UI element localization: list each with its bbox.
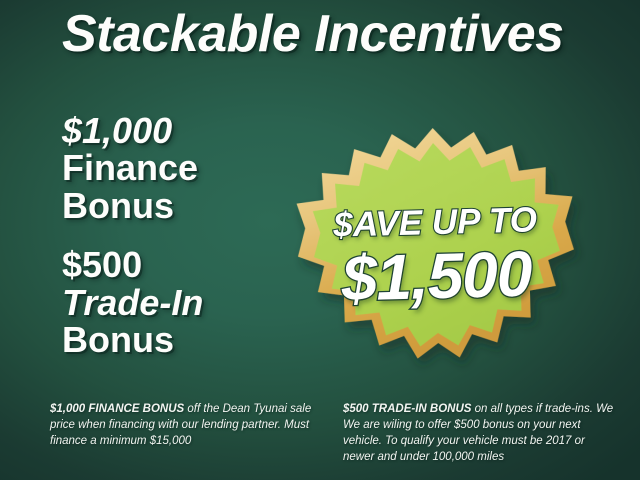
- promo-poster: Stackable Incentives $1,000 Finance Bonu…: [0, 0, 640, 480]
- badge-top-label: $AVE UP TO: [333, 202, 537, 242]
- offer-amount: $1,000: [62, 112, 312, 149]
- offer-label-line2: Bonus: [62, 321, 312, 358]
- offer-label-line2: Bonus: [62, 187, 312, 224]
- fineprint-paragraph: $500 TRADE-IN BONUS on all types if trad…: [343, 402, 614, 465]
- fineprint-finance-column: $1,000 FINANCE BONUS off the Dean Tyunai…: [50, 402, 321, 465]
- badge-text-group: $AVE UP TO $1,500: [291, 120, 582, 391]
- fineprint-lead: $1,000 FINANCE BONUS: [50, 403, 184, 415]
- offer-finance-bonus: $1,000 Finance Bonus: [62, 112, 312, 224]
- offer-amount: $500: [62, 246, 312, 283]
- savings-starburst-badge: $AVE UP TO $1,500: [291, 120, 582, 391]
- offer-list: $1,000 Finance Bonus $500 Trade-In Bonus: [62, 112, 312, 381]
- fineprint-section: $1,000 FINANCE BONUS off the Dean Tyunai…: [50, 402, 614, 465]
- fineprint-paragraph: $1,000 FINANCE BONUS off the Dean Tyunai…: [50, 402, 321, 450]
- fineprint-tradein-column: $500 TRADE-IN BONUS on all types if trad…: [343, 402, 614, 465]
- offer-label-line1: Trade-In: [62, 284, 312, 321]
- offer-label-line1: Finance: [62, 149, 312, 186]
- badge-amount: $1,500: [341, 241, 532, 310]
- page-title: Stackable Incentives: [62, 4, 564, 64]
- fineprint-lead: $500 TRADE-IN BONUS: [343, 403, 471, 415]
- offer-trade-in-bonus: $500 Trade-In Bonus: [62, 246, 312, 358]
